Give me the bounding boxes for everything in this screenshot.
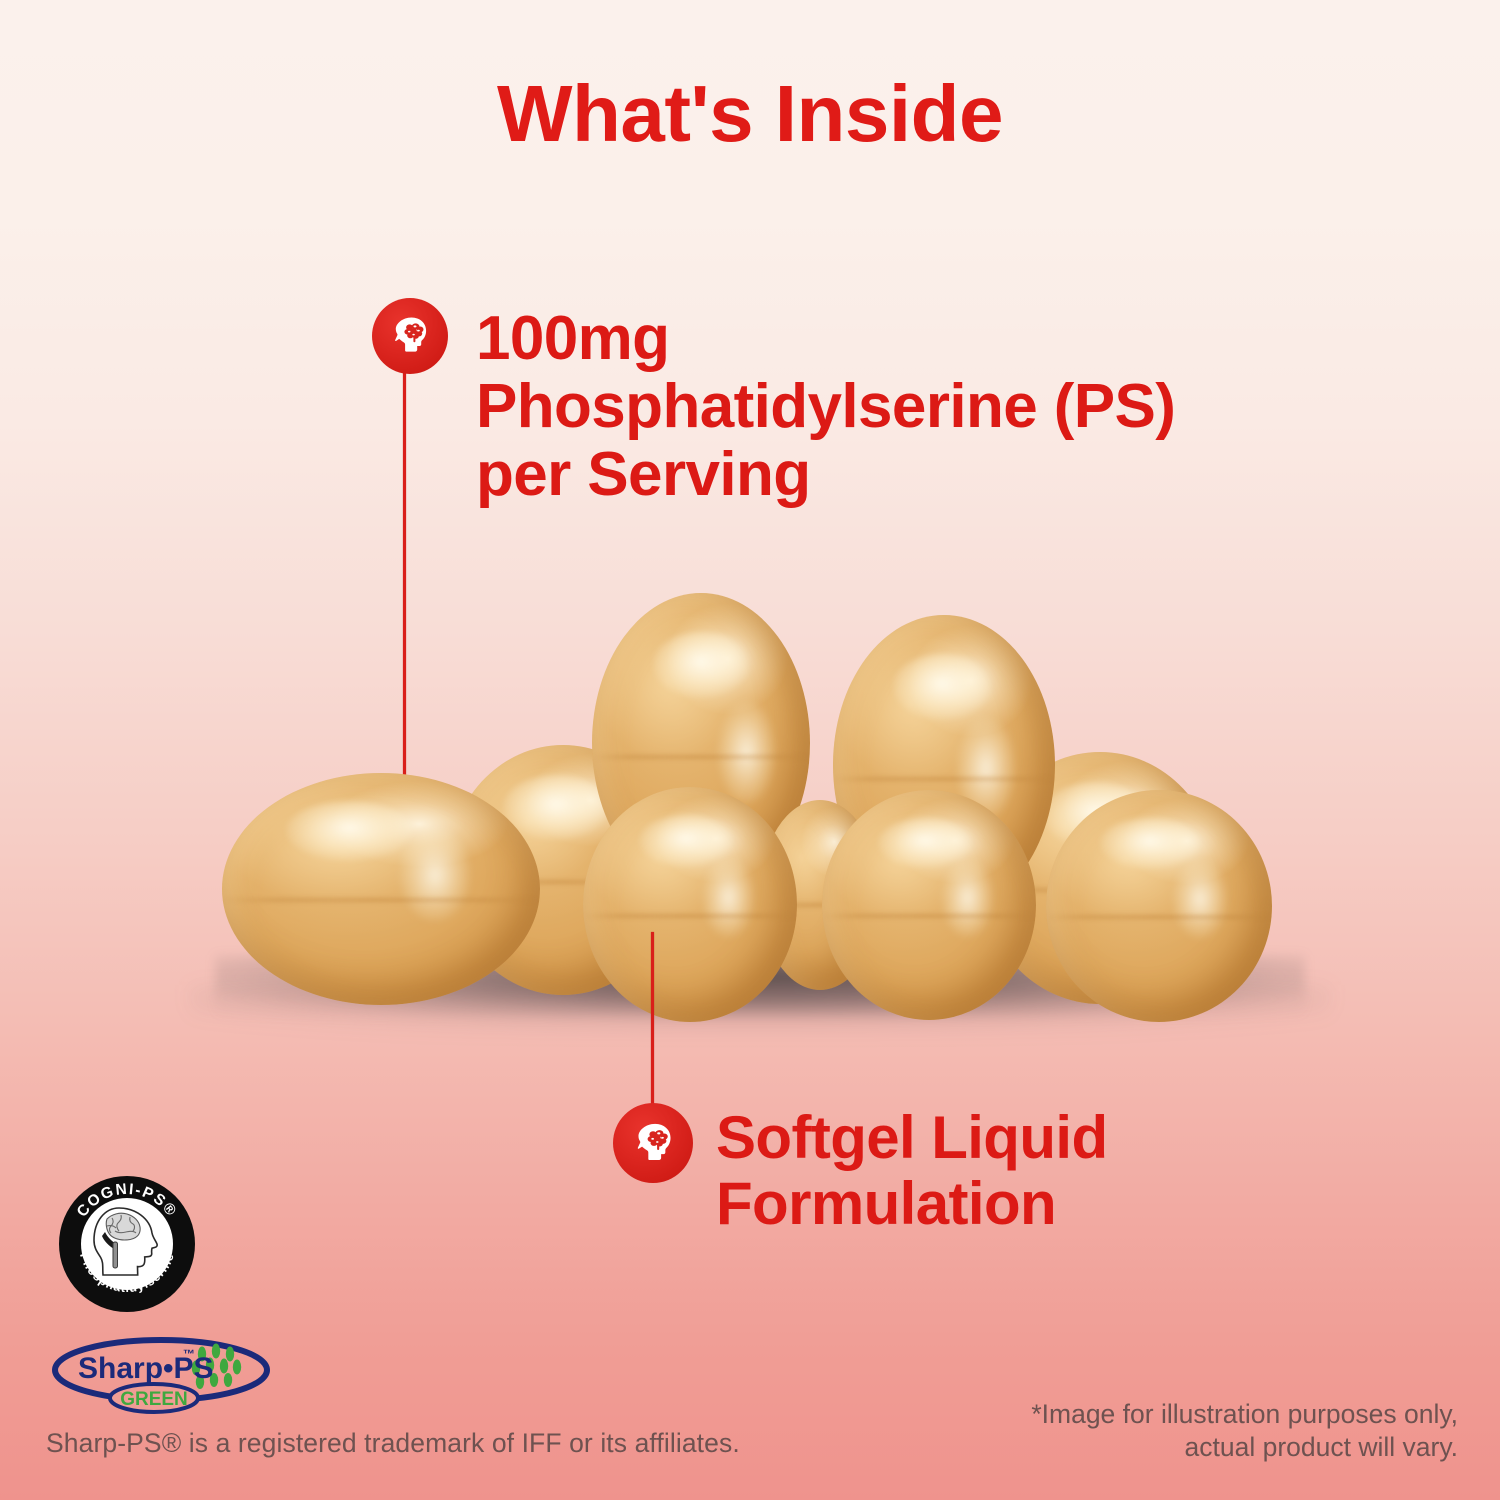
- capsule-front-3: [1046, 790, 1272, 1022]
- capsule-shadow: [215, 955, 1305, 1017]
- capsule-back-left: [448, 745, 678, 995]
- sharp-ps-green-label: GREEN: [120, 1389, 188, 1410]
- illustration-disclaimer: *Image for illustration purposes only, a…: [1031, 1398, 1458, 1465]
- capsule-top-left: [592, 593, 810, 893]
- callout-text-ps-dose: 100mg Phosphatidylserine (PS) per Servin…: [476, 305, 1336, 510]
- callout-line-softgel-form: [651, 932, 654, 1110]
- callout-pin-ps-dose[interactable]: [372, 298, 448, 374]
- illustration-disclaimer-line-1: *Image for illustration purposes only,: [1031, 1398, 1458, 1431]
- brain-head-icon: [626, 1116, 681, 1171]
- capsule-shadow-soft: [190, 985, 1330, 1031]
- sharp-ps-green-logo: Sharp•PS ™ GREEN: [50, 1332, 272, 1416]
- softgel-capsule-pile: [0, 0, 1500, 1500]
- callout-softgel-line-1: Softgel Liquid: [716, 1105, 1416, 1171]
- capsule-front-left: [222, 773, 540, 1005]
- page-title: What's Inside: [0, 74, 1500, 154]
- callout-text-softgel-form: Softgel Liquid Formulation: [716, 1105, 1416, 1237]
- capsule-middle-filler: [760, 800, 880, 990]
- callout-line-ps-dose: [403, 372, 406, 839]
- capsule-back-right: [982, 752, 1218, 1004]
- whats-inside-infographic: What's Inside: [0, 0, 1500, 1500]
- sharp-ps-trademark: ™: [183, 1347, 195, 1361]
- callout-pin-softgel-form[interactable]: [613, 1103, 693, 1183]
- brain-head-icon: [384, 310, 436, 362]
- trademark-notice: Sharp-PS® is a registered trademark of I…: [46, 1428, 740, 1459]
- callout-ps-dose-line-1: 100mg: [476, 305, 1336, 373]
- capsule-front-2: [822, 790, 1036, 1020]
- capsule-top-right: [833, 615, 1055, 915]
- callout-ps-dose-line-3: per Serving: [476, 441, 1336, 509]
- illustration-disclaimer-line-2: actual product will vary.: [1031, 1431, 1458, 1464]
- cogni-ps-logo: COGNI-PS® Phosphatidylserine: [57, 1174, 197, 1314]
- capsule-front-1: [583, 787, 797, 1022]
- callout-softgel-line-2: Formulation: [716, 1171, 1416, 1237]
- callout-ps-dose-line-2: Phosphatidylserine (PS): [476, 373, 1336, 441]
